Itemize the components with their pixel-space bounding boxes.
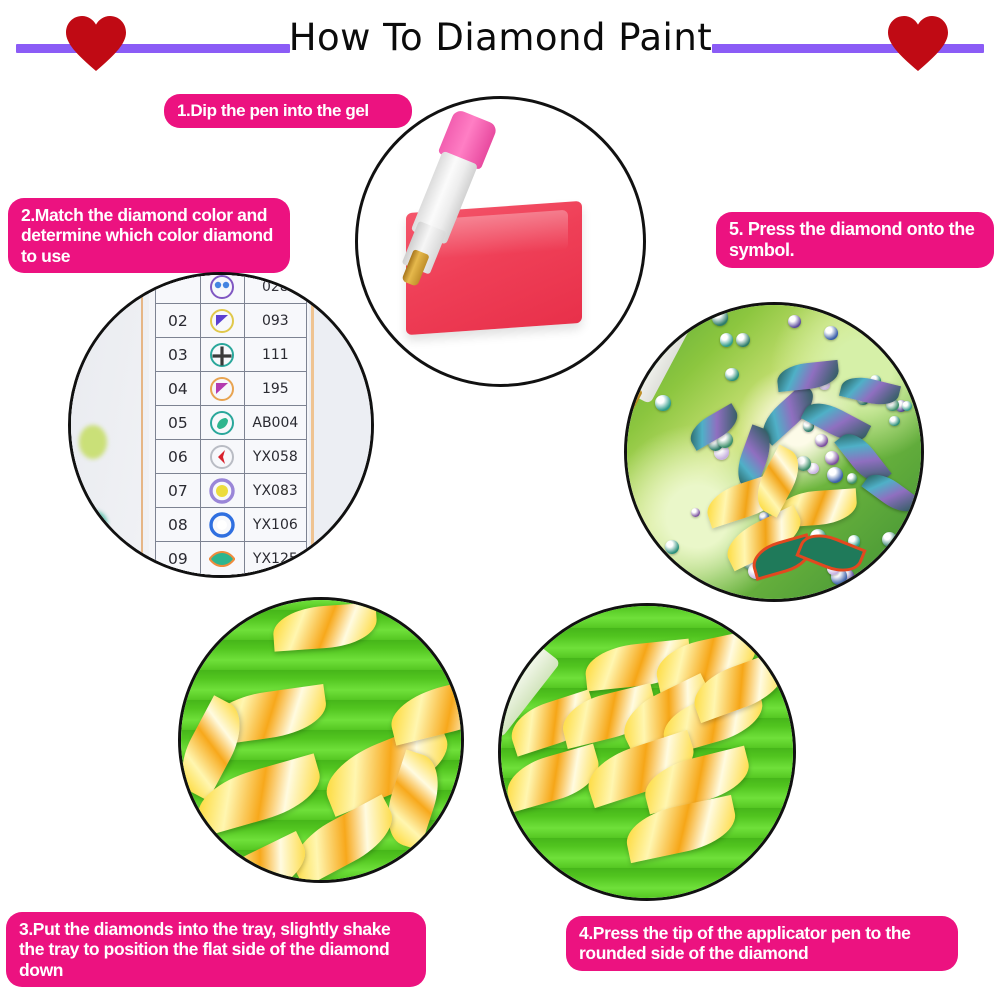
canvas-paint-blob: [79, 425, 107, 459]
chart-row-triangle-icon: [200, 372, 244, 406]
photo-pen-picking-diamond: [498, 603, 796, 901]
table-row: 06YX058: [156, 440, 307, 474]
page-title: How To Diamond Paint: [0, 16, 1001, 59]
chart-row-number: 04: [156, 372, 201, 406]
table-row: 028: [156, 272, 307, 304]
chart-row-code: YX083: [244, 474, 306, 508]
table-row: 03111: [156, 338, 307, 372]
canvas-gem: [847, 473, 857, 483]
chart-row-number: 02: [156, 304, 201, 338]
canvas-gem: [902, 401, 912, 411]
canvas-gem: [882, 573, 891, 582]
page-header: How To Diamond Paint: [0, 0, 1001, 88]
chart-row-number: 03: [156, 338, 201, 372]
chart-margin-line: [141, 275, 143, 578]
photo-diamonds-in-tray: [178, 597, 464, 883]
canvas-gem: [725, 368, 739, 382]
table-row: 02093: [156, 304, 307, 338]
chart-row-chevron-left-icon: [200, 440, 244, 474]
chart-row-number: [156, 272, 201, 304]
chart-row-dot-in-ring-icon: [200, 474, 244, 508]
chart-row-code: AB004: [244, 406, 306, 440]
step-4-label: 4.Press the tip of the applicator pen to…: [566, 916, 958, 971]
chart-margin-line: [311, 275, 314, 578]
step-5-label: 5. Press the diamond onto the symbol.: [716, 212, 994, 268]
photo-color-chart: 02802093031110419505AB00406YX05807YX0830…: [68, 272, 374, 578]
canvas-gem: [889, 416, 900, 427]
canvas-gem: [635, 550, 650, 565]
chart-row-leaf-icon: [200, 406, 244, 440]
photo-pen-dipping-into-gel: [355, 96, 646, 387]
chart-row-code: YX058: [244, 440, 306, 474]
photo-press-diamond-onto-symbol: [624, 302, 924, 602]
chart-row-code: YX125: [244, 542, 306, 576]
chart-row-number: 08: [156, 508, 201, 542]
canvas-gem: [824, 326, 838, 340]
chart-row-code: YX106: [244, 508, 306, 542]
chart-row-code: 093: [244, 304, 306, 338]
pen-tip: [498, 712, 500, 781]
chart-row-triangle-icon: [200, 304, 244, 338]
canvas-gem: [665, 540, 679, 554]
chart-row-code: 195: [244, 372, 306, 406]
table-row: 05AB004: [156, 406, 307, 440]
chart-row-ring-icon: [200, 508, 244, 542]
canvas-gem: [720, 333, 734, 347]
canvas-printed-symbol: [81, 511, 107, 537]
step-2-label: 2.Match the diamond color and determine …: [8, 198, 290, 273]
chart-row-number: 09: [156, 542, 201, 576]
table-row: 08YX106: [156, 508, 307, 542]
chart-row-number: 06: [156, 440, 201, 474]
table-row: 09YX125: [156, 542, 307, 576]
chart-row-number: 05: [156, 406, 201, 440]
chart-row-eye-leaf-icon: [200, 542, 244, 576]
color-chart-table: 02802093031110419505AB00406YX05807YX0830…: [155, 272, 307, 576]
step-3-label: 3.Put the diamonds into the tray, slight…: [6, 912, 426, 987]
chart-row-code: 111: [244, 338, 306, 372]
chart-row-number: 07: [156, 474, 201, 508]
chart-row-circle-dots-icon: [200, 272, 244, 304]
table-row: 07YX083: [156, 474, 307, 508]
table-row: 04195: [156, 372, 307, 406]
canvas-gem: [655, 395, 671, 411]
chart-row-code: 028: [244, 272, 306, 304]
chart-row-plus-icon: [200, 338, 244, 372]
